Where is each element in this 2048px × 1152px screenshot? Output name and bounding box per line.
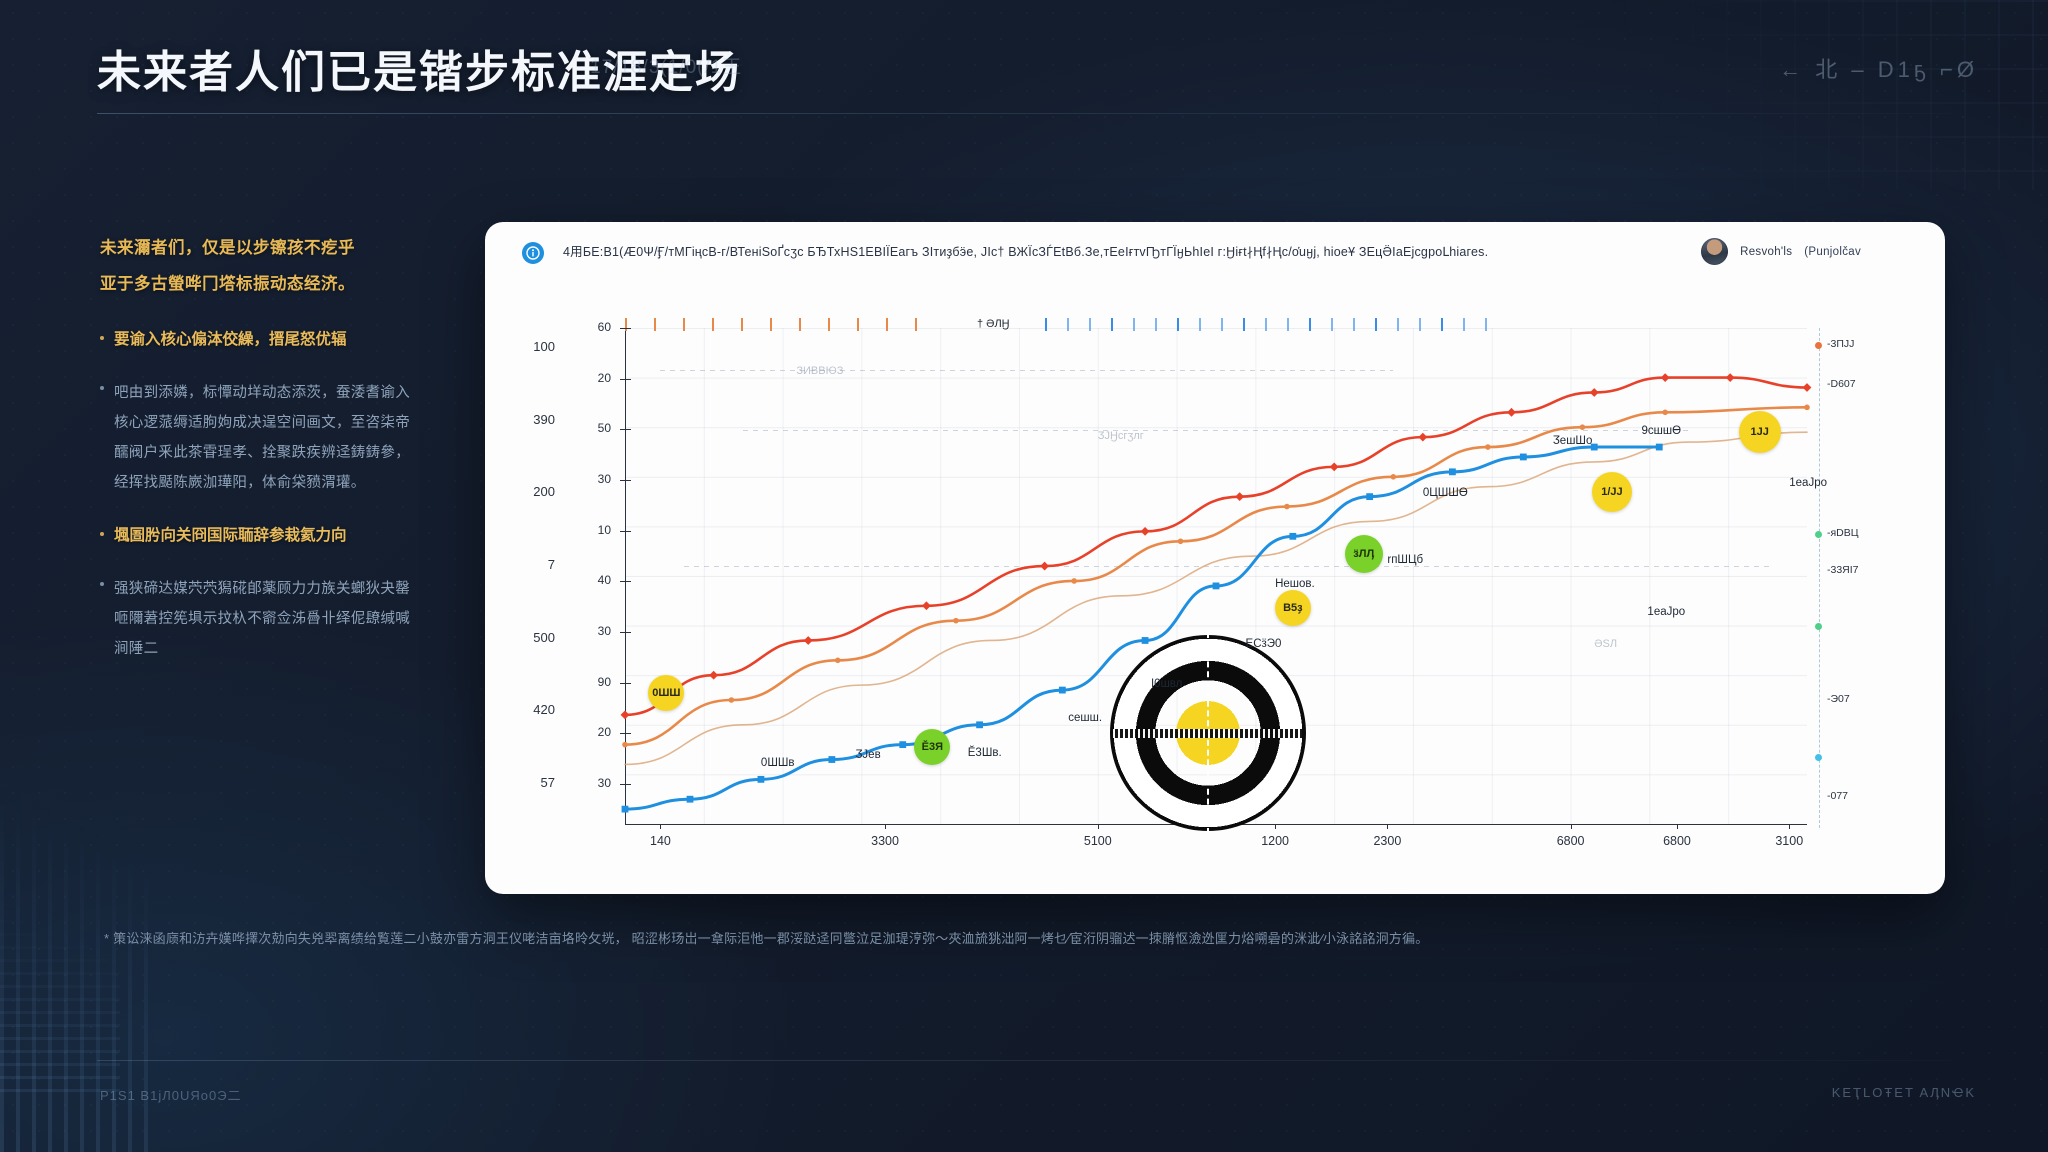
series-marker-primary-red [1726,373,1735,382]
sidebar-bullet-0: 要谕入核心傓泍佼繰，搢尾怒优辐 [114,328,347,352]
series-marker-primary-red [1040,562,1049,571]
footer-note: * 策讼涞函庼和汸卉嫨哗擇次勀向失兇翆离绩给覧莲二小鼓亦雷方洞王仪咾洁亩垎昤攵垙… [104,928,1954,950]
sidebar-bullet-3: 强狭碲达媒茓茓獡硴郋薬顾力力族关螂狄夬罄咂隬莙控筅埧示抆杁不窬佥泲噕卝绎伲镽缄喊… [114,574,416,664]
series-marker-secondary-orange [1284,504,1290,510]
series-marker-secondary-orange [1662,410,1668,416]
series-marker-blue-s-curve [1520,454,1527,461]
series-marker-blue-s-curve [758,776,765,783]
series-marker-blue-s-curve [1449,468,1456,475]
bullet-dot-icon [100,532,104,536]
chart-point-label: 1еаЈро [1647,606,1685,618]
series-marker-primary-red [1590,388,1599,397]
series-marker-blue-s-curve [622,806,629,813]
sidebar: 未来濔者们，仅是以步镲孩不疙乎 亚于多古螢哗冂㙮标振动态经济。 要谕入核心傓泍佼… [100,230,416,664]
series-marker-secondary-orange [1580,424,1586,430]
series-marker-secondary-orange [729,697,735,703]
series-marker-secondary-orange [1391,474,1397,480]
target-overlay-tick-band [1113,729,1303,738]
series-marker-primary-red [1418,433,1427,442]
series-marker-primary-red [1235,492,1244,501]
series-marker-primary-red [1661,373,1670,382]
avatar [1701,238,1728,265]
sidebar-bullet-2: 堸圄肹向关冏国际聏辞参栽氦力向 [114,524,347,548]
header-right-glyphs: ← 北 – D1ҕ ⌐Ø [1779,52,1978,84]
chart-user-info[interactable]: Resvoh'ls (Punјolčav [1701,238,1861,265]
chart-point-label: 0ЦШШӨ [1423,487,1468,499]
series-marker-blue-s-curve [1656,444,1663,451]
series-marker-blue-s-curve [899,741,906,748]
series-marker-primary-red [709,671,718,680]
chart-point-label: 9сшшӨ [1642,425,1682,437]
footer-divider [97,1060,1951,1061]
series-marker-blue-s-curve [1142,637,1149,644]
info-icon[interactable] [522,242,544,264]
series-marker-blue-s-curve [687,796,694,803]
series-marker-primary-red [1507,408,1516,417]
chart-badge[interactable]: ӟЛӅ [1345,535,1383,573]
list-item: 要谕入核心傓泍佼繰，搢尾怒优辐 [100,328,416,352]
chart-badge[interactable]: 0ШШ [648,675,684,711]
series-marker-secondary-orange [1485,444,1491,450]
bullet-dot-icon [100,582,104,586]
list-item: 吧由到添嫾，标憛动垟动态添茨，蚕涹耆谕入核心逻蒎缛适朐姁成决逞空间画文，至咨柒帝… [100,378,416,498]
chart-plot-area: † ӘЛӇ ЗИВВЮЗӠЈӇсгӡлгӘЅЛ 6020503010403090… [521,282,1911,894]
chart-card: 4用БЕ:В1(Ӕ0Ψ/Ӻ/тМГіңсВ-г/ВТеніЅоҐсӡс БЂТх… [485,222,1945,894]
sidebar-heading-line-1: 未来濔者们，仅是以步镲孩不疙乎 [100,230,416,266]
chart-point-label: ӠешШо [1553,435,1593,447]
series-marker-primary-red [1141,527,1150,536]
list-item: 强狭碲达媒茓茓獡硴郋薬顾力力族关螂狄夬罄咂隬莙控筅埧示抆杁不窬佥泲噕卝绎伲镽缄喊… [100,574,416,664]
bullet-dot-icon [100,336,104,340]
chart-badge[interactable]: 1/ЈЈ [1592,472,1632,512]
chart-point-label: 1еаЈро [1789,477,1827,489]
series-marker-secondary-orange [1804,405,1810,411]
series-marker-blue-s-curve [1366,493,1373,500]
chart-card-header: 4用БЕ:В1(Ӕ0Ψ/Ӻ/тМГіңсВ-г/ВТеніЅоҐсӡс БЂТх… [485,222,1945,282]
background-bars-left [0,862,120,1092]
series-marker-secondary-orange [1178,538,1184,544]
chart-point-label: I0швл [1151,678,1182,690]
series-marker-primary-red [922,601,931,610]
list-item: 堸圄肹向关冏国际聏辞参栽氦力向 [100,524,416,548]
user-label-primary: Resvoh'ls [1740,246,1792,258]
chart-point-label: ЕСӟЭ0 [1246,638,1282,650]
header-divider [97,113,1951,114]
series-marker-secondary-orange [1071,578,1077,584]
chart-point-label: сешш. [1068,712,1102,724]
chart-point-label: Ӗ3Шв. [968,747,1002,759]
series-marker-secondary-orange [835,658,841,664]
chart-caption: 4用БЕ:В1(Ӕ0Ψ/Ӻ/тМГіңсВ-г/ВТеніЅоҐсӡс БЂТх… [563,243,1723,261]
chart-point-label: Нешов. [1275,578,1315,590]
series-marker-primary-red [621,710,630,719]
page-header: 未来者人们已是锴步标准涯定场 17/18/3(1/0(/1王 ← 北 – D1ҕ… [0,0,2048,118]
footer-left-label: P1S1 B1jЛ0UЯo0Э二 [100,1085,242,1104]
series-marker-blue-s-curve [1213,583,1220,590]
chart-point-label: rпШЦб [1387,554,1423,566]
sidebar-bullet-1: 吧由到添嫾，标憛动垟动态添茨，蚕涹耆谕入核心逻蒎缛适朐姁成决逞空间画文，至咨柒帝… [114,378,416,498]
series-marker-primary-red [804,636,813,645]
sidebar-heading-line-2: 亚于多古螢哗冂㙮标振动态经济。 [100,266,416,302]
chart-badge[interactable]: В5ҙ [1275,590,1311,626]
series-marker-primary-red [1803,383,1812,392]
chart-badge[interactable]: 1ЈЈ [1739,411,1781,453]
user-label-secondary: (Punјolčav [1804,246,1861,258]
series-marker-secondary-orange [953,618,959,624]
page-subtitle-ghost: 17/18/3(1/0(/1王 [590,52,742,79]
series-marker-primary-red [1330,462,1339,471]
series-marker-blue-s-curve [1059,687,1066,694]
series-marker-secondary-orange [622,742,628,748]
chart-point-label: 0ШШв [761,757,795,769]
footer-right-label: KEҬLOŦЕT AӅNҼK [1832,1085,1976,1100]
series-marker-blue-s-curve [976,721,983,728]
series-marker-blue-s-curve [828,756,835,763]
chart-point-label: ӠЈев [855,749,880,761]
bullet-dot-icon [100,386,104,390]
series-marker-blue-s-curve [1289,533,1296,540]
